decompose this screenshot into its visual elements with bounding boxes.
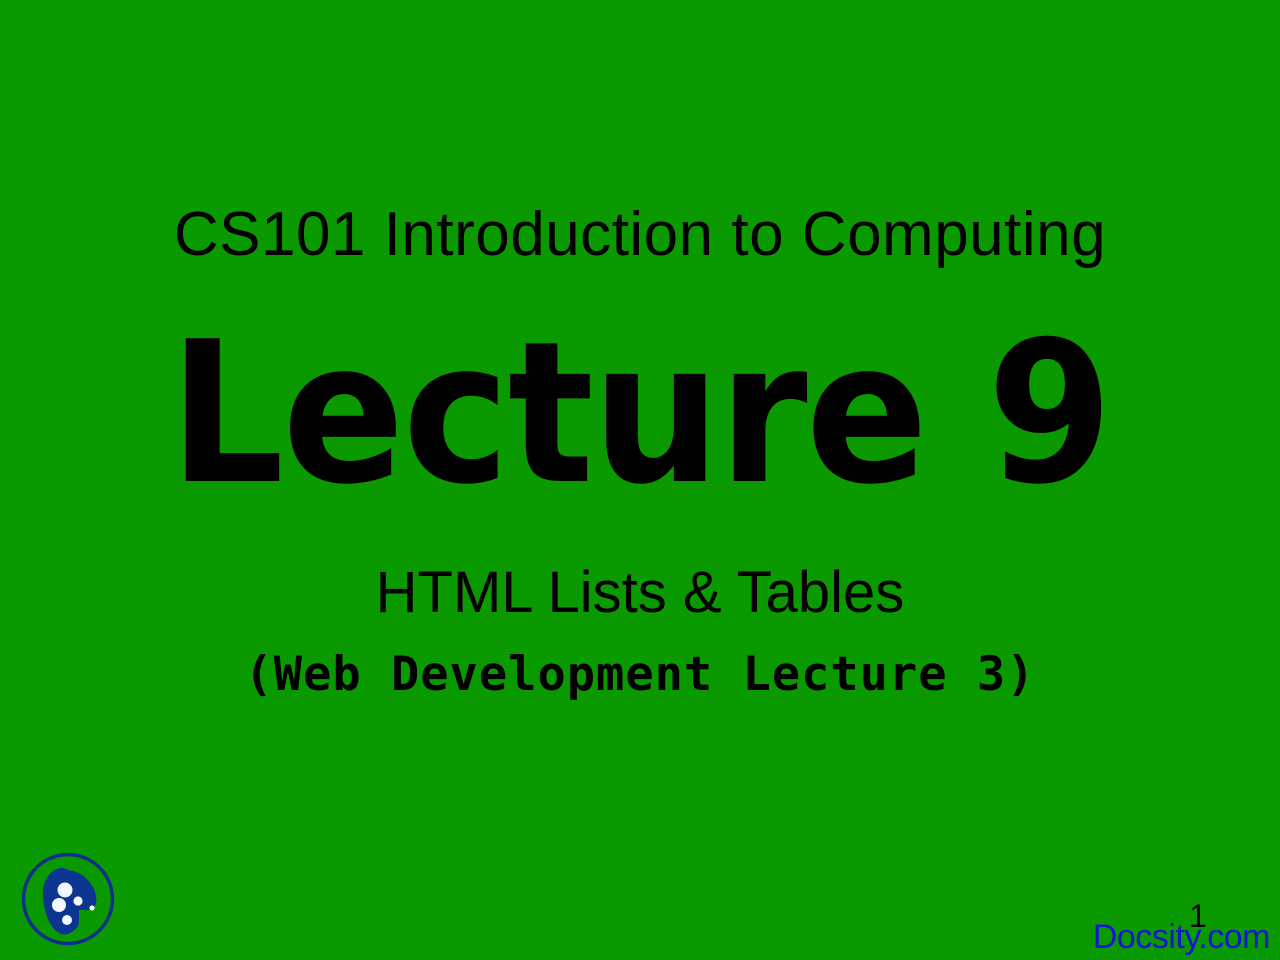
virtual-university-logo-icon <box>21 852 115 946</box>
docsity-watermark[interactable]: Docsity.com <box>1093 918 1270 956</box>
series-subtitle: (Web Development Lecture 3) <box>0 645 1280 705</box>
presentation-slide: CS101 Introduction to Computing Lecture … <box>0 0 1280 960</box>
lecture-title: Lecture 9 <box>51 316 1229 512</box>
course-title: CS101 Introduction to Computing <box>0 196 1280 274</box>
topic-subtitle: HTML Lists & Tables <box>0 557 1280 629</box>
